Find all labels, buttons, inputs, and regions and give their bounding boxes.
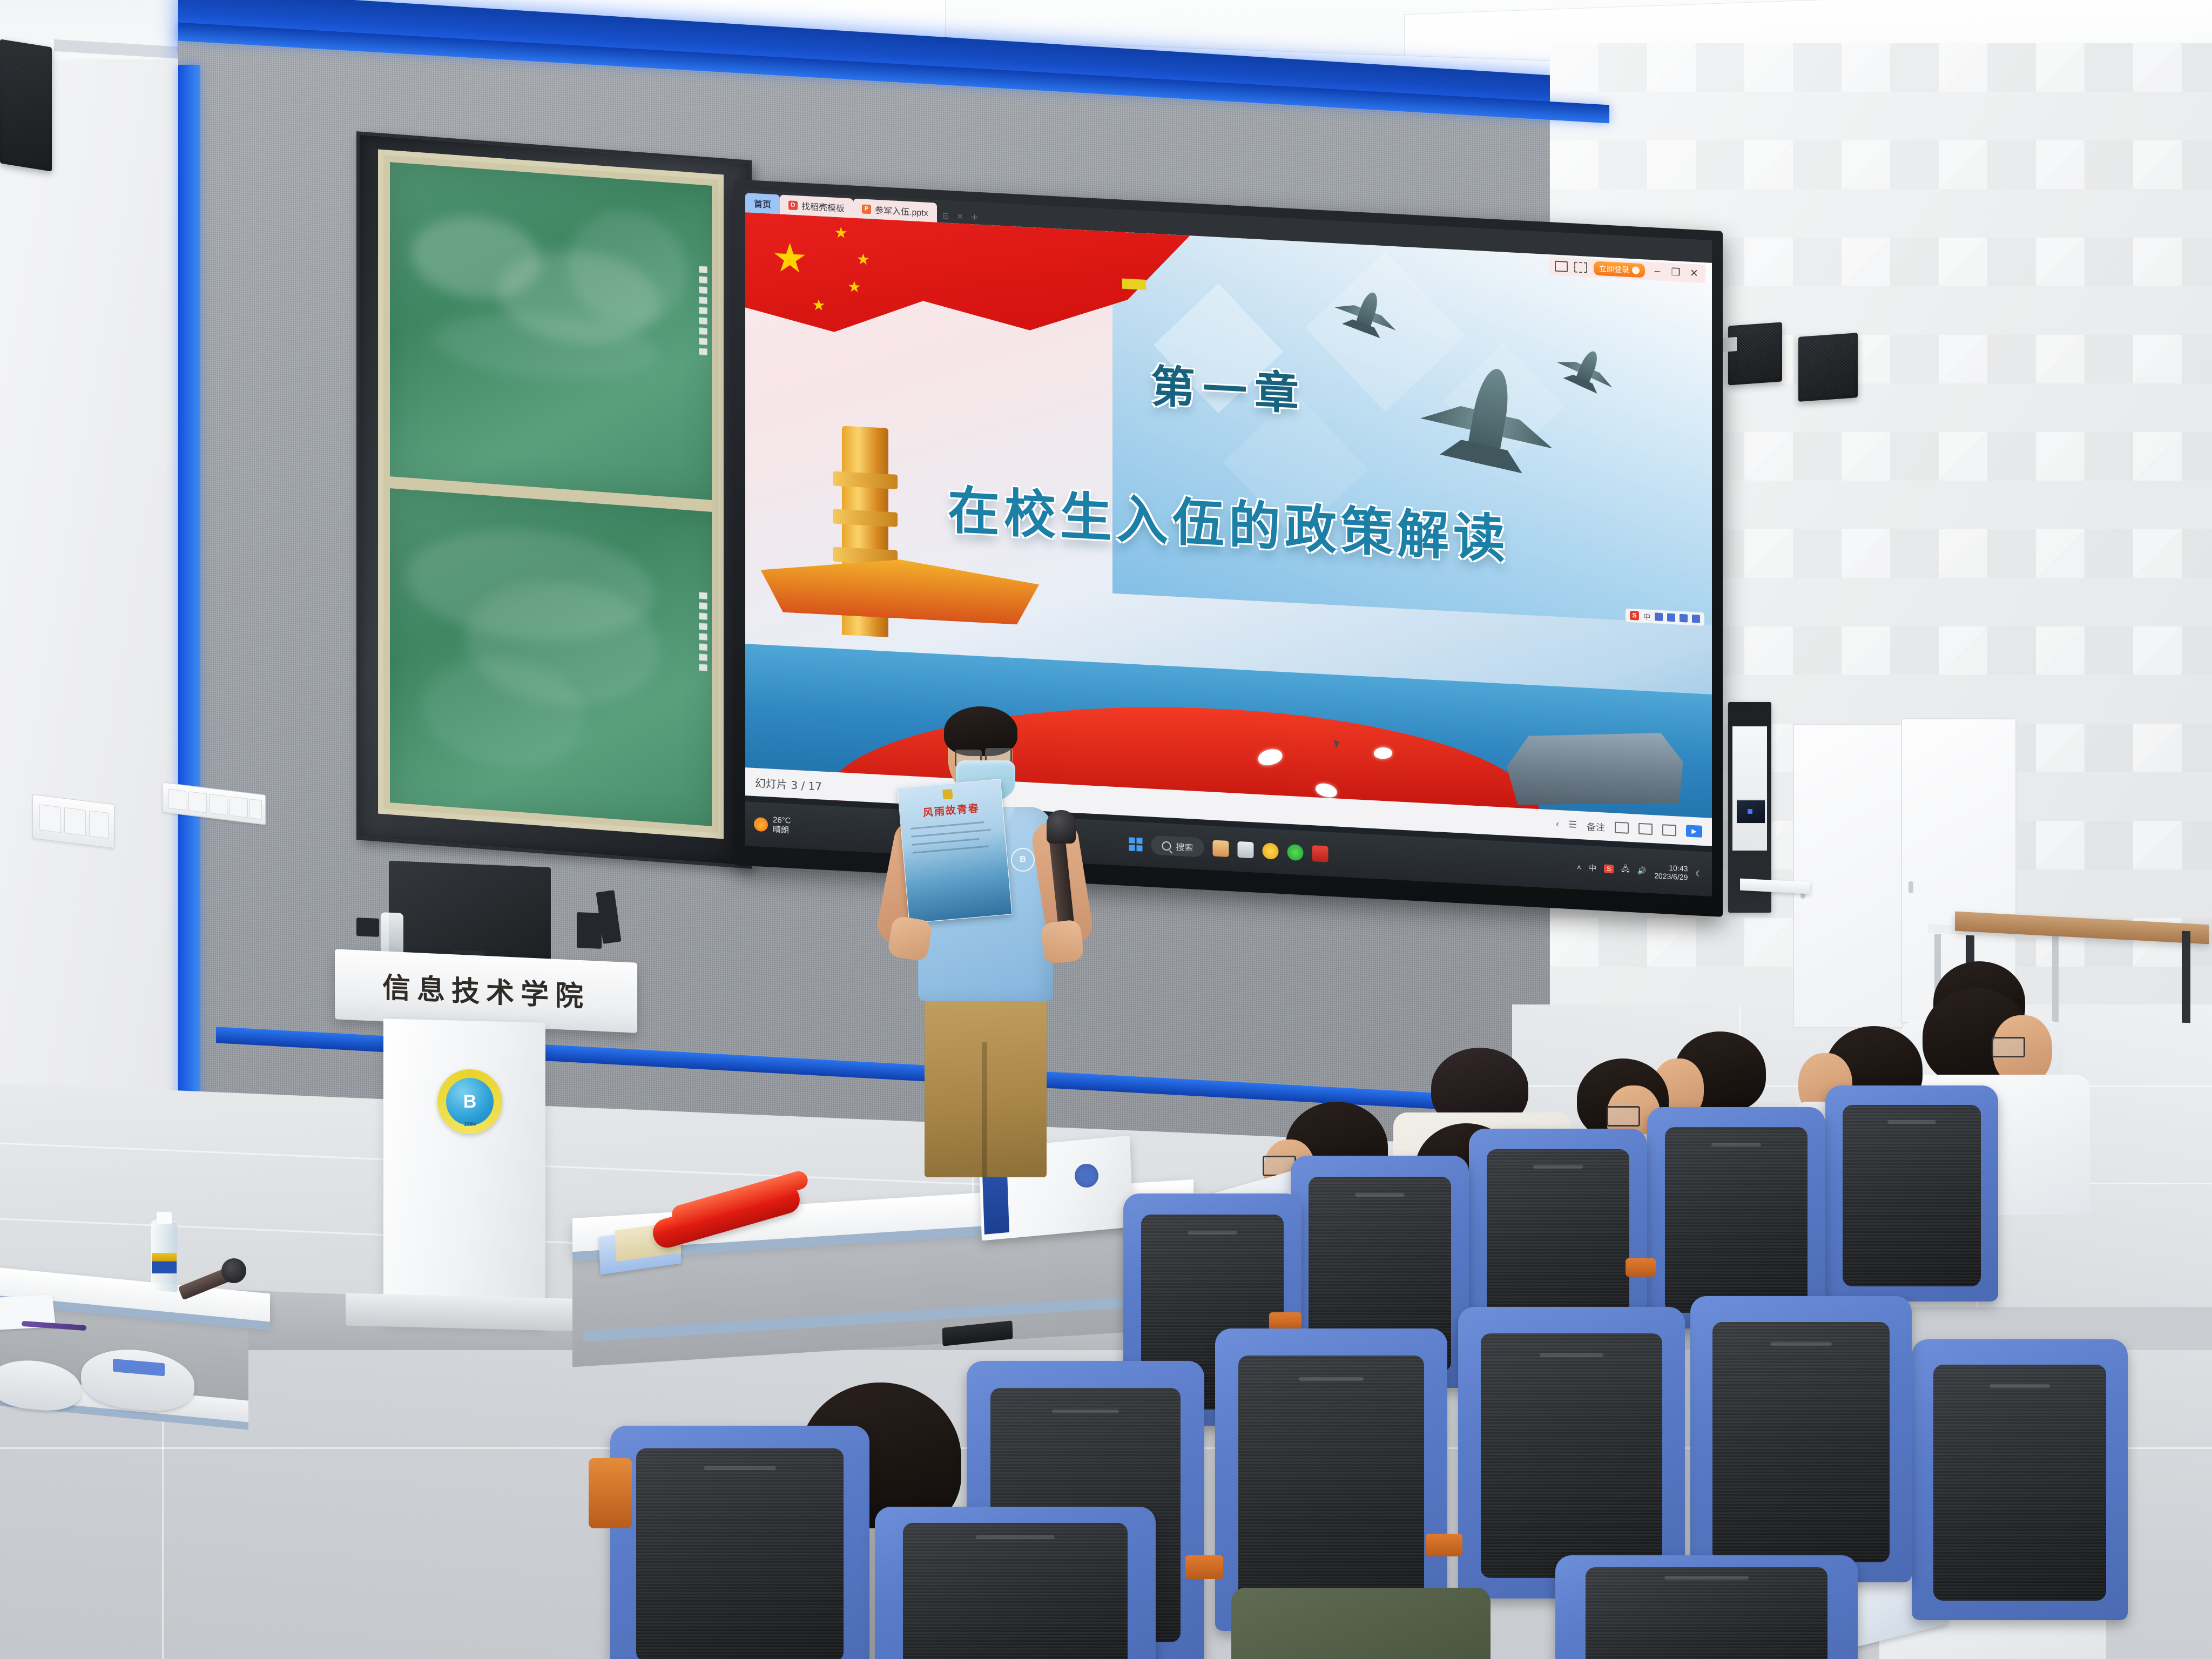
toolbox-icon[interactable] [1667,613,1675,622]
gate-roof [761,552,1040,626]
network-icon[interactable]: 🖧 [1621,863,1630,876]
close-tab-icon[interactable]: ✕ [956,212,963,222]
interactive-display[interactable]: 首页 D 找稻壳模板 P 参军入伍.pptx ⊟ ✕ + [745,190,1712,896]
back-table-leg [2182,931,2190,1023]
brochure: 风雨故青春 [897,779,1012,923]
college-logo: B 1984 [437,1069,502,1134]
wall-speaker-right [1728,322,1782,386]
qq-icon[interactable] [1263,842,1279,860]
minimize-button[interactable]: – [1651,265,1663,278]
wall-trim-left [178,65,200,1188]
search-input[interactable]: 搜索 [1151,835,1204,857]
audience-front-shoulder [1231,1588,1491,1659]
avatar [1632,266,1640,274]
college-logo-year: 1984 [437,1122,502,1128]
brochure-crest [942,789,953,800]
college-logo-mark: B [446,1078,494,1125]
slide-counter: 幻灯片 3 / 17 [755,774,822,793]
control-panel-indicator [1748,809,1752,814]
speaker-microphone-head [1047,810,1076,844]
back-shelf-leg [2052,930,2059,1022]
wall-speaker-right-2 [1798,333,1858,402]
desktop-monitor [389,861,551,965]
weather-widget[interactable]: 26°C 晴朗 [754,815,791,835]
menu-icon[interactable] [1692,615,1700,623]
tab-pptx-label: 参军入伍.pptx [875,203,928,219]
seat-armrest-front [589,1458,632,1528]
volume-icon[interactable]: 🔊 [1637,866,1647,875]
seat-armrest [1626,1258,1656,1277]
podium-base [346,1293,589,1332]
sogou-icon[interactable]: S [1630,611,1639,621]
seat[interactable] [1825,1085,1998,1301]
seat-armrest [1426,1534,1462,1556]
seat[interactable] [1458,1307,1685,1599]
chevron-up-icon[interactable]: ˄ [1577,863,1581,872]
restore-button[interactable]: ❐ [1670,266,1682,279]
clock-date: 2023/6/29 [1654,871,1688,881]
blackboard-panel-lower [390,488,712,826]
wall-cabinet-door-1[interactable] [1793,724,1903,1028]
slideshow-icon[interactable]: ▶ [1686,825,1702,838]
outline-icon[interactable]: ☰ [1569,819,1577,831]
taskbar-center[interactable]: 搜索 [1129,834,1328,864]
seat[interactable] [1690,1296,1912,1582]
water-bottle-label [152,1253,177,1273]
water-bottle-cap [157,1212,172,1224]
speaker-left-hand [887,915,933,962]
seat[interactable] [610,1426,869,1659]
weather-description: 晴朗 [773,825,791,835]
seat[interactable] [1647,1107,1825,1328]
single-page-icon[interactable] [1555,261,1568,272]
normal-view-icon[interactable] [1615,821,1629,833]
seat[interactable] [1912,1339,2128,1620]
podium-column [383,1019,545,1325]
prev-icon[interactable]: ‹ [1556,819,1559,829]
blackboard-button-strip-lower[interactable] [699,592,707,671]
minimize-tab-icon[interactable]: ⊟ [942,211,949,221]
audience-glasses-far-right [1992,1037,2025,1057]
brochure-title: 风雨故青春 [900,798,1003,821]
system-tray[interactable]: ˄ 中 S 🖧 🔊 10:43 2023/6/29 ☾ [1577,859,1702,882]
tab-home[interactable]: 首页 [745,193,780,214]
seat-armrest [1185,1555,1223,1579]
control-panel-face [1732,726,1767,851]
wps-icon[interactable] [1312,845,1328,862]
tab-home-label: 首页 [754,197,771,211]
login-button-label: 立即登录 [1599,263,1629,275]
microphone-head [221,1258,246,1283]
slide-canvas[interactable]: ★ ★ ★ ★ ★ [745,212,1712,846]
speaker-right-hand [1040,919,1085,965]
moon-icon[interactable]: ☾ [1695,869,1702,879]
speaker-trousers-seam [982,1042,987,1177]
grid-view-icon[interactable] [1574,262,1587,273]
file-explorer-icon[interactable] [1238,841,1254,859]
wps-tray-icon[interactable]: S [1604,864,1614,873]
seat[interactable] [1215,1328,1447,1631]
tray-icon[interactable] [1680,614,1688,623]
tab-tools[interactable]: ⊟ ✕ + [942,208,978,224]
notes-icon[interactable]: 备注 [1587,819,1605,833]
powerpoint-icon: P [862,204,871,214]
desert-wallpaper-icon[interactable] [1213,840,1229,857]
search-placeholder: 搜索 [1176,840,1193,854]
docer-icon: D [788,200,798,210]
status-bar-right[interactable]: ‹ ☰ 备注 ▶ [1556,817,1702,838]
sorter-view-icon[interactable] [1662,824,1676,836]
blackboard-button-strip-upper[interactable] [699,266,707,355]
seat[interactable] [875,1507,1156,1659]
gooseneck-mic-base [577,912,602,949]
ime-chinese-icon[interactable]: 中 [1589,862,1596,874]
speaker-shirt-logo: B [1011,848,1035,872]
wechat-icon[interactable] [1287,844,1304,861]
close-button[interactable]: ✕ [1688,267,1700,280]
tab-docer-label: 找稻壳模板 [801,199,845,214]
blackboard-panel-upper [390,162,712,500]
white-box-seal [1075,1164,1098,1188]
windows-logo-icon[interactable] [1129,837,1142,851]
wall-speaker-left [0,39,52,171]
login-button[interactable]: 立即登录 [1594,261,1645,278]
new-tab-icon[interactable]: + [971,210,978,225]
yellow-accent-box [1122,279,1146,290]
ime-mode-label[interactable]: 中 [1643,611,1650,622]
camera [356,918,379,937]
search-icon [1162,841,1171,851]
sun-icon [754,817,768,832]
audience-glasses-center [1607,1106,1640,1127]
reading-view-icon[interactable] [1638,822,1653,834]
blackboard [378,150,724,839]
lecture-hall-photo: 首页 D 找稻壳模板 P 参军入伍.pptx ⊟ ✕ + [0,0,2212,1659]
taskbar-clock[interactable]: 10:43 2023/6/29 [1654,862,1688,881]
seat[interactable] [1555,1555,1858,1659]
keyboard-icon[interactable] [1655,612,1663,621]
